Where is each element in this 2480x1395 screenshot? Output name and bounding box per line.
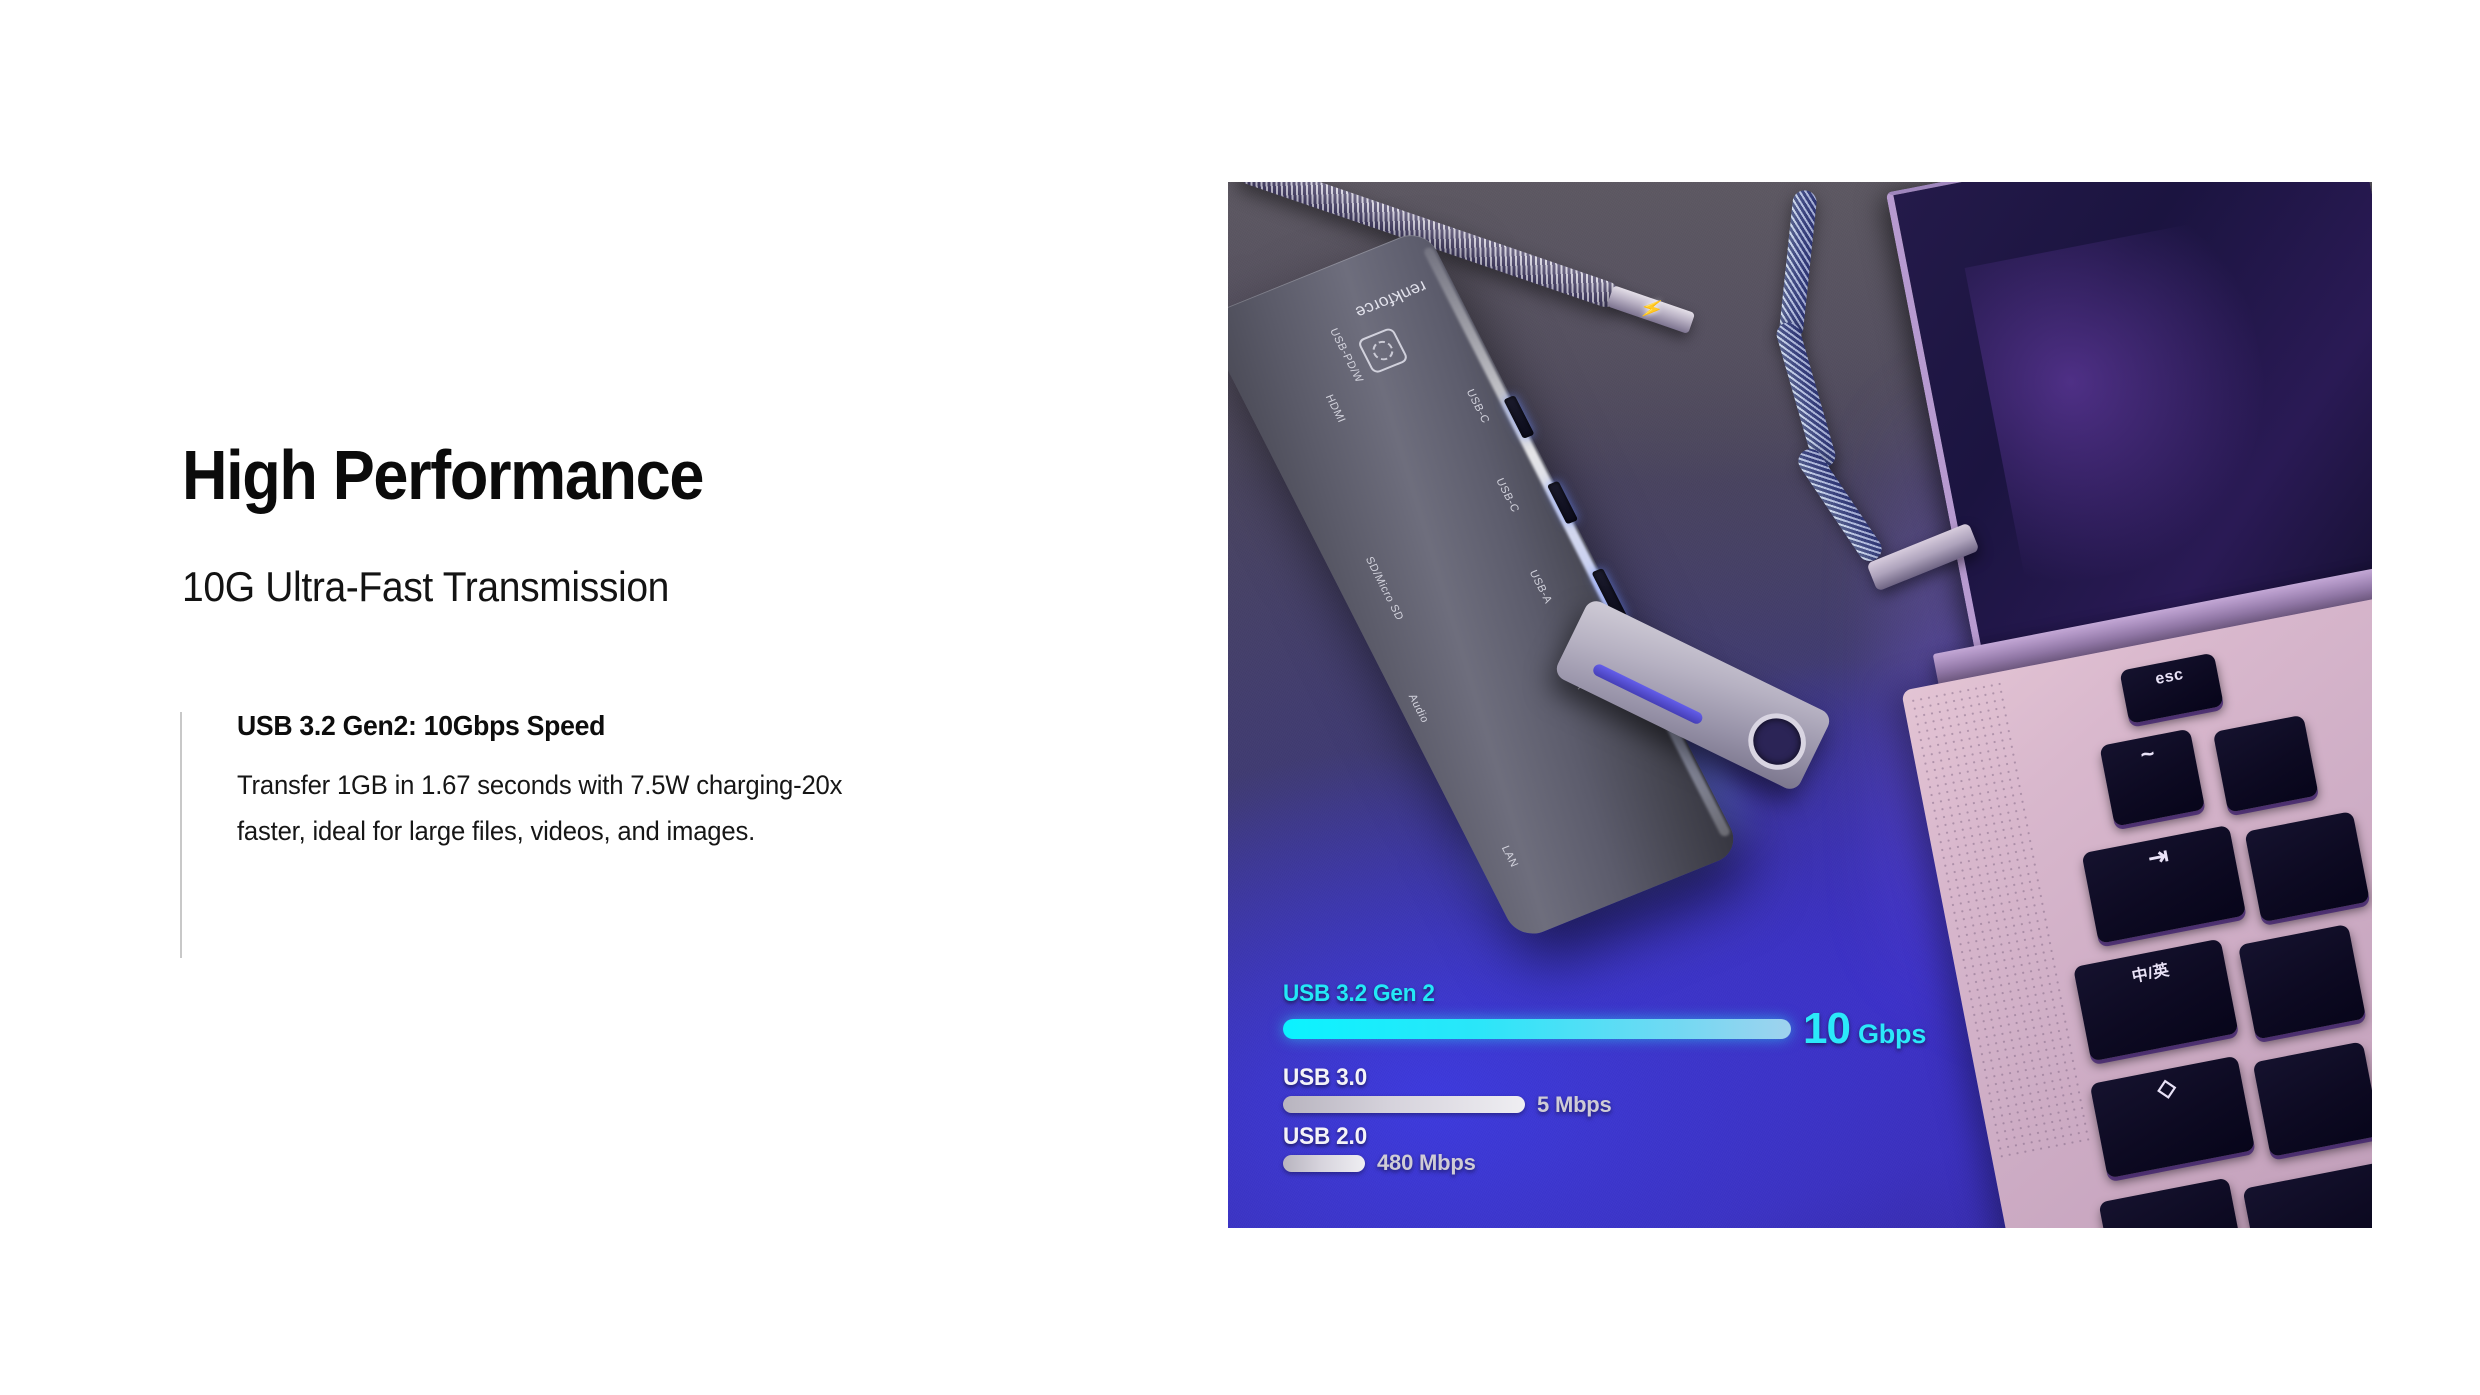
cable-segment	[1774, 320, 1838, 471]
key-shift: ◇	[2090, 1056, 2256, 1179]
speed-bar-line-usb32: 10Gbps	[1283, 1007, 2103, 1051]
speed-bar-usb30	[1283, 1096, 1525, 1113]
speed-value-text-usb20: 480 Mbps	[1377, 1150, 1476, 1175]
speed-comparison-chart: USB 3.2 Gen 2 10Gbps USB 3.0 5 Mbps USB …	[1283, 981, 2103, 1176]
cable-segment	[1778, 189, 1818, 341]
port-label-usb-c-2: USB-C	[1493, 477, 1521, 515]
recycle-icon	[1357, 327, 1410, 375]
speed-value-unit-usb32: Gbps	[1858, 1019, 1926, 1049]
key-a	[2238, 924, 2366, 1040]
speed-label-usb32: USB 3.2 Gen 2	[1283, 981, 2054, 1007]
product-photo: esc ~ ⇥ 中/英 ◇ fn control ⚡ renkforce	[1228, 182, 2372, 1228]
usbc-plug	[1866, 522, 1979, 591]
port-label-sd: SD/Micro SD	[1363, 555, 1406, 622]
speed-bar-usb20	[1283, 1155, 1365, 1172]
speed-label-usb30: USB 3.0	[1283, 1065, 2054, 1091]
speed-row-usb32: USB 3.2 Gen 2 10Gbps	[1283, 981, 2103, 1051]
text-column: High Performance 10G Ultra-Fast Transmis…	[182, 440, 1082, 608]
speed-row-usb20: USB 2.0 480 Mbps	[1283, 1124, 2103, 1176]
speed-value-usb30: 5 Mbps	[1537, 1092, 1612, 1118]
page-subtitle: 10G Ultra-Fast Transmission	[182, 566, 1019, 608]
speed-value-usb32: 10Gbps	[1803, 1007, 1926, 1051]
speed-value-usb20: 480 Mbps	[1377, 1150, 1476, 1176]
page-title: High Performance	[182, 440, 992, 510]
key-z	[2253, 1041, 2372, 1157]
feature-description: Transfer 1GB in 1.67 seconds with 7.5W c…	[237, 762, 902, 855]
port-label-usb-pd: USB-PD/W	[1327, 327, 1365, 385]
speed-bar-usb32	[1283, 1019, 1791, 1039]
port-label-hdmi: HDMI	[1323, 393, 1348, 425]
speed-value-number-usb32: 10	[1803, 1004, 1850, 1053]
key-number-1	[2213, 715, 2319, 813]
speed-label-usb20: USB 2.0	[1283, 1124, 2054, 1150]
port-label-lan: LAN	[1499, 844, 1521, 869]
speed-row-usb30: USB 3.0 5 Mbps	[1283, 1065, 2103, 1117]
speed-bar-line-usb30: 5 Mbps	[1283, 1092, 2103, 1118]
port-label-usb-c-1: USB-C	[1464, 388, 1492, 426]
port-label-audio: Audio	[1406, 693, 1431, 725]
key-esc: esc	[2119, 653, 2224, 724]
key-fn: fn	[2098, 1177, 2246, 1228]
key-tab: ⇥	[2081, 825, 2246, 944]
brand-logo: renkforce	[1351, 276, 1429, 322]
speed-bar-line-usb20: 480 Mbps	[1283, 1150, 2103, 1176]
key-q	[2244, 811, 2370, 922]
feature-title: USB 3.2 Gen2: 10Gbps Speed	[237, 712, 924, 740]
feature-block: USB 3.2 Gen2: 10Gbps Speed Transfer 1GB …	[180, 712, 960, 958]
cable-segment	[1794, 444, 1887, 565]
usbc-cable	[1776, 190, 2076, 620]
key-control: control	[2242, 1159, 2372, 1228]
key-tilde: ~	[2099, 729, 2205, 827]
port-label-usb-a-1: USB-A	[1527, 568, 1555, 605]
speed-value-text-usb30: 5 Mbps	[1537, 1092, 1612, 1117]
